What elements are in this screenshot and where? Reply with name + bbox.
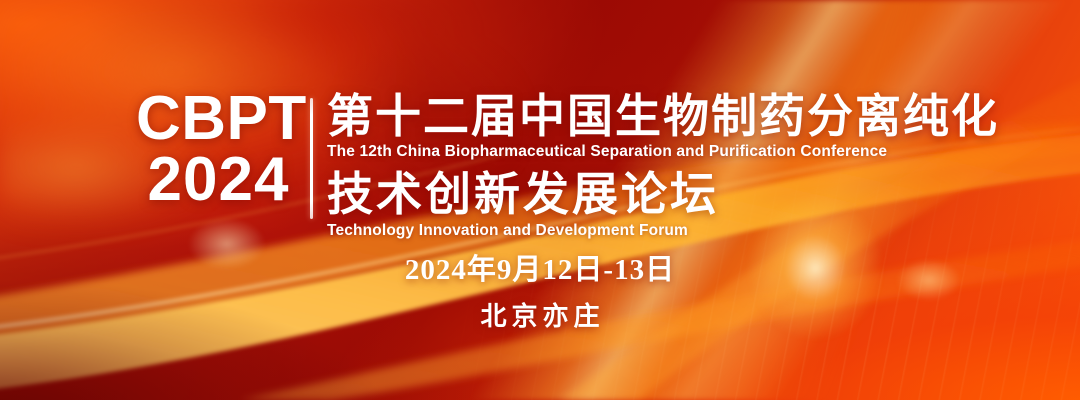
logo-acronym: CBPT	[136, 88, 301, 149]
title-row-primary: 第十二届中国生物制药分离纯化 The 12th China Biopharmac…	[327, 93, 999, 161]
title-english-primary: The 12th China Biopharmaceutical Separat…	[327, 142, 999, 161]
title-chinese-secondary: 技术创新发展论坛	[327, 171, 999, 220]
title-chinese-primary: 第十二届中国生物制药分离纯化	[327, 93, 999, 142]
event-title-block: 第十二届中国生物制药分离纯化 The 12th China Biopharmac…	[327, 93, 999, 240]
event-location: 北京亦庄	[0, 300, 1080, 334]
title-row-secondary: 技术创新发展论坛 Technology Innovation and Devel…	[327, 171, 999, 240]
banner-content: CBPT 2024 第十二届中国生物制药分离纯化 The 12th China …	[0, 0, 1080, 400]
event-logo: CBPT 2024	[136, 88, 301, 211]
event-date: 2024年9月12日-13日	[0, 252, 1080, 288]
event-meta: 2024年9月12日-13日 北京亦庄	[0, 252, 1080, 334]
vertical-divider	[310, 98, 313, 219]
logo-year: 2024	[136, 149, 301, 210]
title-english-secondary: Technology Innovation and Development Fo…	[327, 221, 999, 240]
conference-banner: CBPT 2024 第十二届中国生物制药分离纯化 The 12th China …	[0, 0, 1080, 400]
